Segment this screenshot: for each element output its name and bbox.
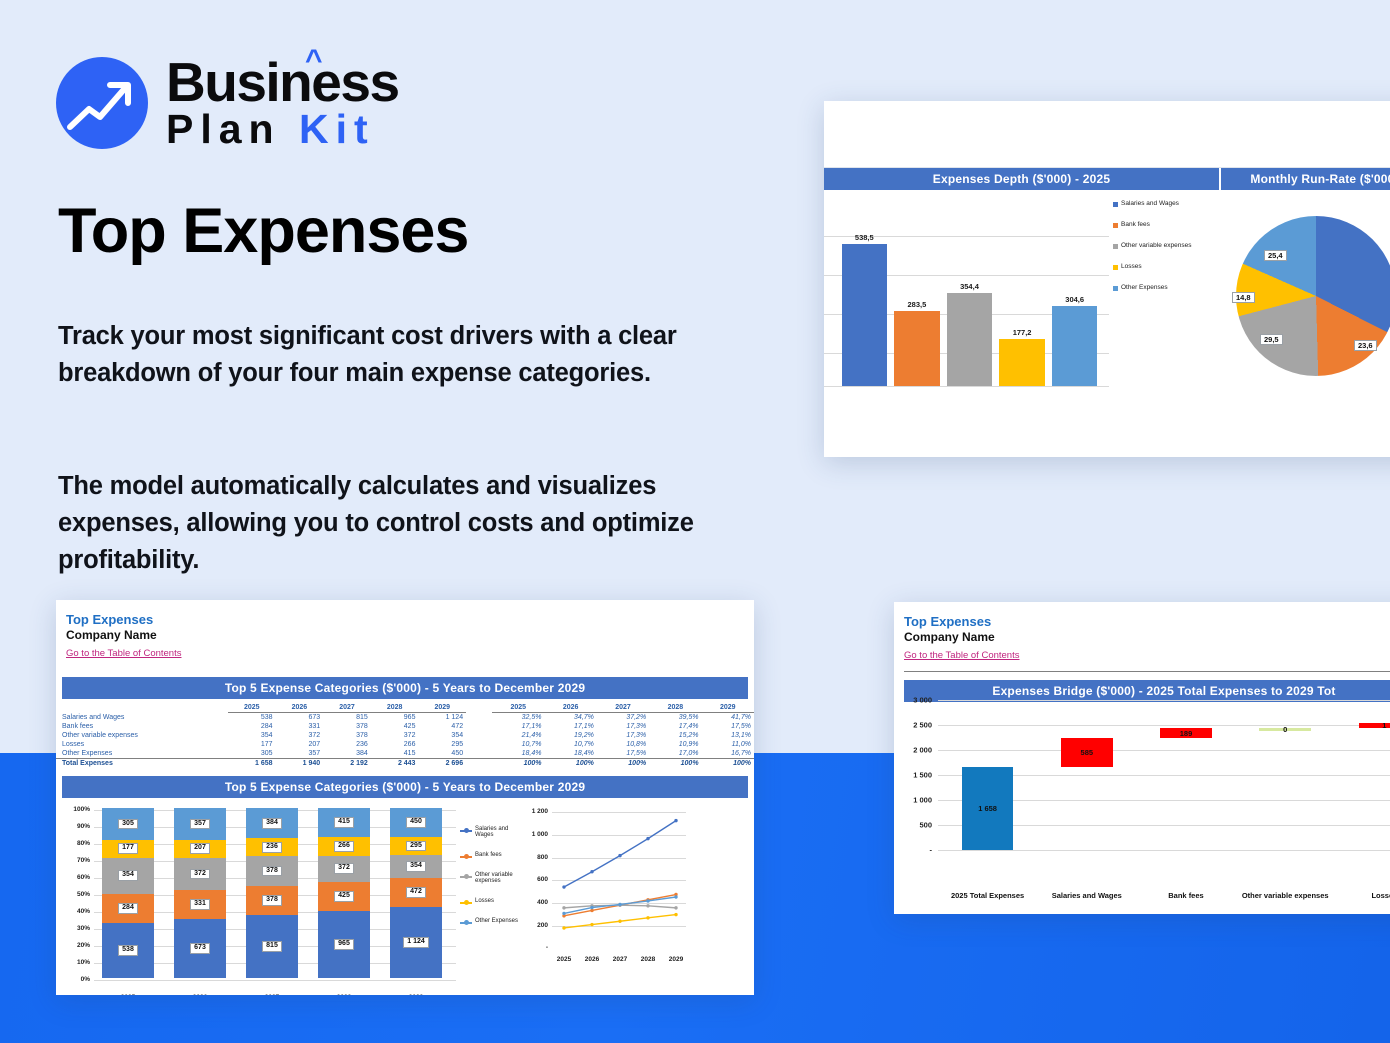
table-cell-percent: 10,7% xyxy=(544,740,596,749)
table-total-label: Total Expenses xyxy=(56,759,228,769)
table-body: Salaries and Wages5386738159651 12432,5%… xyxy=(56,713,754,769)
table-year-header: 2025 xyxy=(228,703,276,713)
stacked-bar-segment: 354 xyxy=(102,858,154,894)
table-cell-value: 295 xyxy=(418,740,466,749)
bar-value-label: 283,5 xyxy=(908,300,927,309)
bar-rect xyxy=(1052,306,1097,386)
top-panel-charts: 538,5283,5354,4177,2304,6 Salaries and W… xyxy=(824,190,1390,400)
brand-name-secondary: Plan Kit xyxy=(166,110,399,149)
bar-series-expenses-depth: 538,5283,5354,4177,2304,6 xyxy=(838,218,1101,386)
table-row: Salaries and Wages5386738159651 12432,5%… xyxy=(56,713,754,723)
legend-line-icon xyxy=(460,830,472,832)
table-cell-value: 378 xyxy=(323,722,371,731)
table-year-header-pct: 2028 xyxy=(649,703,701,713)
bar-rect xyxy=(999,339,1044,386)
table-cell-percent: 10,7% xyxy=(492,740,544,749)
pie-label-losses: 14,8 xyxy=(1232,292,1255,303)
table-total-percent: 100% xyxy=(702,759,754,769)
waterfall-value-label: 1 xyxy=(1382,721,1386,730)
x-axis-category: 2028 xyxy=(318,994,370,995)
table-cell-percent: 17,3% xyxy=(597,722,649,731)
waterfall-value-label: 0 xyxy=(1283,725,1287,734)
y-axis-tick: 70% xyxy=(62,857,90,864)
stacked-bar-segment: 354 xyxy=(390,855,442,877)
table-row-label: Salaries and Wages xyxy=(56,713,228,723)
stacked-bar-segment: 207 xyxy=(174,840,226,858)
x-axis-category: 2025 xyxy=(102,994,154,995)
stacked-bar-segment: 384 xyxy=(246,808,298,838)
bar-column: 304,6 xyxy=(1048,218,1101,386)
segment-value-label: 815 xyxy=(262,941,282,952)
stacked-bar-column: 4502953544721 124 xyxy=(390,808,442,978)
table-year-header: 2027 xyxy=(323,703,371,713)
y-axis-tick: 0% xyxy=(62,976,90,983)
table-cell-percent: 15,2% xyxy=(649,731,701,740)
segment-value-label: 305 xyxy=(118,819,138,830)
x-axis-category: Other variable expenses xyxy=(1236,891,1335,900)
y-axis-tick: 40% xyxy=(62,908,90,915)
segment-value-label: 538 xyxy=(118,945,138,956)
band-monthly-run-rate: Monthly Run-Rate ($'000 xyxy=(1219,168,1390,190)
legend-item: Other variable expenses xyxy=(460,872,522,884)
y-axis-tick: 90% xyxy=(62,823,90,830)
segment-value-label: 284 xyxy=(118,903,138,914)
legend-item: Salaries and Wages xyxy=(1113,200,1212,207)
bar-value-label: 538,5 xyxy=(855,233,874,242)
segment-value-label: 177 xyxy=(118,843,138,854)
brand-logo: Business ^ Plan Kit xyxy=(56,56,399,149)
legend-item: Other Expenses xyxy=(460,918,522,924)
table-cell-percent: 17,5% xyxy=(597,749,649,759)
segment-value-label: 354 xyxy=(118,870,138,881)
legend-line-icon xyxy=(460,902,472,904)
table-cell-value: 354 xyxy=(418,731,466,740)
table-cell-value: 284 xyxy=(228,722,276,731)
table-total-row: Total Expenses1 6581 9402 1922 4432 6961… xyxy=(56,759,754,769)
stacked-bar-segment: 331 xyxy=(174,890,226,919)
sheet-header-right: Top Expenses Company Name Go to the Tabl… xyxy=(894,602,1390,663)
bar-rect xyxy=(894,311,939,386)
chart-monthly-run-rate-pie: 25,4 14,8 29,5 23,6 xyxy=(1214,190,1390,400)
circumflex-accent-icon: ^ xyxy=(305,47,321,76)
stacked-bar-segment: 284 xyxy=(102,894,154,923)
segment-value-label: 1 124 xyxy=(403,937,429,948)
hero-paragraph-2: The model automatically calculates and v… xyxy=(58,468,748,580)
legend-item: Other Expenses xyxy=(1113,284,1212,291)
y-axis-tick: 60% xyxy=(62,874,90,881)
stacked-bar-segment: 538 xyxy=(102,923,154,978)
legend-label: Other Expenses xyxy=(475,918,518,924)
table-cell-percent: 34,7% xyxy=(544,713,596,723)
brand-word-plan: Plan xyxy=(166,106,299,152)
legend-line-chart: Salaries and WagesBank feesOther variabl… xyxy=(460,802,522,995)
stacked-bar-column: 384236378378815 xyxy=(246,808,298,978)
table-year-header-pct: 2027 xyxy=(597,703,649,713)
line-series-group xyxy=(522,802,690,962)
waterfall-value-label: 189 xyxy=(1180,729,1193,738)
sheet-header-left: Top Expenses Company Name Go to the Tabl… xyxy=(56,600,754,661)
screenshot-panel-top5-categories: Top Expenses Company Name Go to the Tabl… xyxy=(56,600,754,995)
table-row: Losses17720723626629510,7%10,7%10,8%10,9… xyxy=(56,740,754,749)
table-cell-value: 378 xyxy=(323,731,371,740)
stacked-bar-segment: 415 xyxy=(318,808,370,837)
rule xyxy=(904,671,1390,672)
table-cell-percent: 21,4% xyxy=(492,731,544,740)
segment-value-label: 372 xyxy=(334,863,354,874)
bar-rect xyxy=(842,244,887,386)
table-cell-percent: 10,8% xyxy=(597,740,649,749)
table-cell-value: 357 xyxy=(276,749,324,759)
legend-item: Losses xyxy=(460,898,522,904)
table-cell-percent: 18,4% xyxy=(492,749,544,759)
table-row: Other Expenses30535738441545018,4%18,4%1… xyxy=(56,749,754,759)
legend-item: Losses xyxy=(1113,263,1212,270)
top-panel-band-row: Expenses Depth ($'000) - 2025 Monthly Ru… xyxy=(824,167,1390,190)
table-year-header: 2029 xyxy=(418,703,466,713)
table-cell-percent: 18,4% xyxy=(544,749,596,759)
stacked-bar-segment: 305 xyxy=(102,808,154,839)
toc-link[interactable]: Go to the Table of Contents xyxy=(66,648,181,659)
table-cell-value: 538 xyxy=(228,713,276,723)
x-axis-category: Salaries and Wages xyxy=(1037,891,1136,900)
segment-value-label: 331 xyxy=(190,899,210,910)
table-cell-value: 415 xyxy=(371,749,419,759)
table-header-row: 2025202620272028202920252026202720282029 xyxy=(56,703,754,713)
stacked-bar-segment: 357 xyxy=(174,808,226,839)
table-year-header-pct: 2026 xyxy=(544,703,596,713)
segment-value-label: 425 xyxy=(334,891,354,902)
table-cell-percent: 17,0% xyxy=(649,749,701,759)
legend-label: Salaries and Wages xyxy=(475,826,522,838)
legend-swatch-icon xyxy=(1113,286,1118,291)
table-total-value: 2 696 xyxy=(418,759,466,769)
table-cell-value: 354 xyxy=(228,731,276,740)
segment-value-label: 357 xyxy=(190,819,210,830)
table-row: Other variable expenses35437237837235421… xyxy=(56,731,754,740)
y-axis-tick: 10% xyxy=(62,959,90,966)
y-axis-tick: 500 xyxy=(894,821,932,830)
waterfall-value-label: 1 658 xyxy=(978,804,997,813)
x-axis-tick: 2027 xyxy=(609,956,631,963)
stacked-bar-segment: 815 xyxy=(246,915,298,978)
table-total-value: 2 443 xyxy=(371,759,419,769)
table-total-percent: 100% xyxy=(544,759,596,769)
table-cell-value: 207 xyxy=(276,740,324,749)
table-total-value: 1 940 xyxy=(276,759,324,769)
y-axis-tick: 3 000 xyxy=(894,696,932,705)
segment-value-label: 472 xyxy=(406,887,426,898)
table-cell-percent: 17,5% xyxy=(702,722,754,731)
legend-swatch-icon xyxy=(1113,244,1118,249)
legend-swatch-icon xyxy=(1113,265,1118,270)
stacked-bar-segment: 177 xyxy=(102,840,154,858)
stacked-bar-segment: 965 xyxy=(318,911,370,978)
stacked-bar-segment: 450 xyxy=(390,808,442,836)
band-top5-table: Top 5 Expense Categories ($'000) - 5 Yea… xyxy=(62,677,748,699)
stacked-bar-segment: 295 xyxy=(390,837,442,856)
chart-expense-trend-lines: -2004006008001 0001 20020252026202720282… xyxy=(522,802,748,995)
stacked-bar-column: 357207372331673 xyxy=(174,808,226,978)
table-year-header: 2028 xyxy=(371,703,419,713)
stacked-bar-column: 415266372425965 xyxy=(318,808,370,978)
legend-label: Other Expenses xyxy=(1121,284,1168,291)
x-axis-tick: 2028 xyxy=(637,956,659,963)
table-cell-percent: 17,3% xyxy=(597,731,649,740)
table-cell-percent: 13,1% xyxy=(702,731,754,740)
segment-value-label: 354 xyxy=(406,861,426,872)
table-total-percent: 100% xyxy=(597,759,649,769)
stacked-bar-segment: 673 xyxy=(174,919,226,978)
bar-column: 354,4 xyxy=(943,218,996,386)
bar-column: 538,5 xyxy=(838,218,891,386)
bar-value-label: 354,4 xyxy=(960,282,979,291)
table-cell-percent: 41,7% xyxy=(702,713,754,723)
trending-arrow-icon xyxy=(56,57,148,149)
segment-value-label: 266 xyxy=(334,841,354,852)
table-year-header: 2026 xyxy=(276,703,324,713)
legend-item: Salaries and Wages xyxy=(460,826,522,838)
legend-expenses-depth: Salaries and WagesBank feesOther variabl… xyxy=(1109,190,1214,400)
segment-value-label: 207 xyxy=(190,843,210,854)
stacked-bar-segment: 378 xyxy=(246,886,298,915)
y-axis-tick: 2 000 xyxy=(894,746,932,755)
table-cell-value: 450 xyxy=(418,749,466,759)
legend-label: Losses xyxy=(1121,263,1142,270)
legend-label: Other variable expenses xyxy=(475,872,522,884)
table-cell-value: 331 xyxy=(276,722,324,731)
page-title: Top Expenses xyxy=(58,198,468,264)
left-panel-charts: 0%10%20%30%40%50%60%70%80%90%100%3051773… xyxy=(56,798,754,995)
table-cell-value: 372 xyxy=(371,731,419,740)
table-cell-value: 372 xyxy=(276,731,324,740)
legend-line-icon xyxy=(460,876,472,878)
hero-paragraph-1: Track your most significant cost drivers… xyxy=(58,318,748,392)
y-axis-tick: 20% xyxy=(62,942,90,949)
table-cell-value: 965 xyxy=(371,713,419,723)
segment-value-label: 415 xyxy=(334,817,354,828)
segment-value-label: 236 xyxy=(262,842,282,853)
table-cell-value: 815 xyxy=(323,713,371,723)
legend-line-icon xyxy=(460,922,472,924)
sheet-title-right: Top Expenses xyxy=(904,614,1390,630)
stacked-bar-segment: 378 xyxy=(246,856,298,885)
brand-word-kit: Kit xyxy=(299,106,375,152)
table-cell-percent: 19,2% xyxy=(544,731,596,740)
y-axis-tick: 50% xyxy=(62,891,90,898)
segment-value-label: 965 xyxy=(334,939,354,950)
stacked-bar-segment: 266 xyxy=(318,837,370,856)
segment-value-label: 372 xyxy=(190,869,210,880)
x-axis-tick: 2026 xyxy=(581,956,603,963)
y-axis-tick: 30% xyxy=(62,925,90,932)
table-cell-percent: 32,5% xyxy=(492,713,544,723)
band-top5-chart: Top 5 Expense Categories ($'000) - 5 Yea… xyxy=(62,776,748,798)
stacked-bar-segment: 372 xyxy=(174,858,226,891)
table-row-label: Losses xyxy=(56,740,228,749)
brand-name-primary: Business ^ xyxy=(166,56,399,108)
y-axis-tick: - xyxy=(894,846,932,855)
table-year-header-pct: 2029 xyxy=(702,703,754,713)
bar-column: 177,2 xyxy=(996,218,1049,386)
segment-value-label: 673 xyxy=(190,943,210,954)
bar-value-label: 177,2 xyxy=(1013,328,1032,337)
legend-label: Bank fees xyxy=(1121,221,1150,228)
x-axis-category: 2025 Total Expenses xyxy=(938,891,1037,900)
waterfall-bar: 585 xyxy=(1061,738,1113,767)
pie-label-other-expenses: 25,4 xyxy=(1264,250,1287,261)
stacked-bar-segment: 372 xyxy=(318,856,370,882)
stacked-bar-segment: 472 xyxy=(390,878,442,908)
waterfall-value-label: 585 xyxy=(1081,748,1094,757)
table-cell-value: 177 xyxy=(228,740,276,749)
brand-word-business: Business xyxy=(166,51,399,113)
legend-label: Salaries and Wages xyxy=(1121,200,1179,207)
sheet-company-name-right: Company Name xyxy=(904,630,1390,645)
legend-item: Other variable expenses xyxy=(1113,242,1212,249)
segment-value-label: 384 xyxy=(262,818,282,829)
pie-slices xyxy=(1236,216,1390,376)
table-row-label: Bank fees xyxy=(56,722,228,731)
stacked-bar-segment: 1 124 xyxy=(390,907,442,978)
screenshot-panel-expenses-bridge: Top Expenses Company Name Go to the Tabl… xyxy=(894,602,1390,914)
x-axis-tick: 2029 xyxy=(665,956,687,963)
segment-value-label: 295 xyxy=(406,841,426,852)
waterfall-bar: 1 xyxy=(1359,723,1390,729)
bar-rect xyxy=(947,293,992,386)
x-axis-tick: 2025 xyxy=(553,956,575,963)
table-year-header-pct: 2025 xyxy=(492,703,544,713)
pie-label-other-variable-expenses: 29,5 xyxy=(1260,334,1283,345)
table-top5-expense-categories: 2025202620272028202920252026202720282029… xyxy=(56,703,754,768)
chart-expenses-depth-bars: 538,5283,5354,4177,2304,6 xyxy=(824,190,1109,400)
waterfall-bar: 189 xyxy=(1160,728,1212,737)
waterfall-bar: 1 658 xyxy=(962,767,1014,850)
table-cell-percent: 16,7% xyxy=(702,749,754,759)
legend-swatch-icon xyxy=(1113,202,1118,207)
y-axis-tick: 1 500 xyxy=(894,771,932,780)
table-row-label: Other Expenses xyxy=(56,749,228,759)
table-cell-value: 305 xyxy=(228,749,276,759)
legend-swatch-icon xyxy=(1113,223,1118,228)
pie-label-bank-fees: 23,6 xyxy=(1354,340,1377,351)
y-axis-tick: 100% xyxy=(62,806,90,813)
x-axis-category: Losses xyxy=(1335,891,1390,900)
legend-label: Bank fees xyxy=(475,852,502,858)
pie-wrapper: 25,4 14,8 29,5 23,6 xyxy=(1236,216,1390,376)
legend-label: Losses xyxy=(475,898,494,904)
chart-expenses-bridge-waterfall: -5001 0001 5002 0002 5003 0001 6582025 T… xyxy=(894,694,1390,884)
toc-link-right[interactable]: Go to the Table of Contents xyxy=(904,650,1019,661)
waterfall-bar: 0 xyxy=(1259,728,1311,731)
table-total-percent: 100% xyxy=(492,759,544,769)
y-axis-tick: 1 000 xyxy=(894,796,932,805)
table-cell-percent: 10,9% xyxy=(649,740,701,749)
stacked-bar-segment: 236 xyxy=(246,838,298,856)
table-cell-value: 673 xyxy=(276,713,324,723)
bar-value-label: 304,6 xyxy=(1065,295,1084,304)
x-axis-category: 2027 xyxy=(246,994,298,995)
table-cell-percent: 17,1% xyxy=(544,722,596,731)
table-cell-percent: 11,0% xyxy=(702,740,754,749)
sheet-company-name: Company Name xyxy=(66,628,754,643)
table-cell-percent: 39,5% xyxy=(649,713,701,723)
screenshot-panel-expenses-depth: Expenses Depth ($'000) - 2025 Monthly Ru… xyxy=(824,101,1390,457)
segment-value-label: 378 xyxy=(262,895,282,906)
x-axis-category: Bank fees xyxy=(1136,891,1235,900)
table-row: Bank fees28433137842547217,1%17,1%17,3%1… xyxy=(56,722,754,731)
legend-line-icon xyxy=(460,856,472,858)
table-cell-value: 384 xyxy=(323,749,371,759)
y-axis-tick: 80% xyxy=(62,840,90,847)
table-cell-percent: 17,4% xyxy=(649,722,701,731)
band-expenses-depth: Expenses Depth ($'000) - 2025 xyxy=(824,168,1219,190)
chart-stacked-percent-bars: 0%10%20%30%40%50%60%70%80%90%100%3051773… xyxy=(60,802,460,995)
legend-item: Bank fees xyxy=(1113,221,1212,228)
legend-label: Other variable expenses xyxy=(1121,242,1191,249)
table-cell-percent: 37,2% xyxy=(597,713,649,723)
stacked-bar-column: 305177354284538 xyxy=(102,808,154,978)
table-cell-value: 266 xyxy=(371,740,419,749)
stacked-bar-segment: 425 xyxy=(318,882,370,912)
table-cell-value: 472 xyxy=(418,722,466,731)
x-axis-category: 2029 xyxy=(390,994,442,995)
table-total-value: 1 658 xyxy=(228,759,276,769)
table-cell-percent: 17,1% xyxy=(492,722,544,731)
table-cell-value: 425 xyxy=(371,722,419,731)
bar-column: 283,5 xyxy=(891,218,944,386)
sheet-title: Top Expenses xyxy=(66,612,754,628)
table-row-label: Other variable expenses xyxy=(56,731,228,740)
y-axis-tick: 2 500 xyxy=(894,721,932,730)
x-axis-category: 2026 xyxy=(174,994,226,995)
segment-value-label: 378 xyxy=(262,866,282,877)
table-total-value: 2 192 xyxy=(323,759,371,769)
segment-value-label: 450 xyxy=(406,817,426,828)
table-cell-value: 236 xyxy=(323,740,371,749)
legend-item: Bank fees xyxy=(460,852,522,858)
table-cell-value: 1 124 xyxy=(418,713,466,723)
table-total-percent: 100% xyxy=(649,759,701,769)
